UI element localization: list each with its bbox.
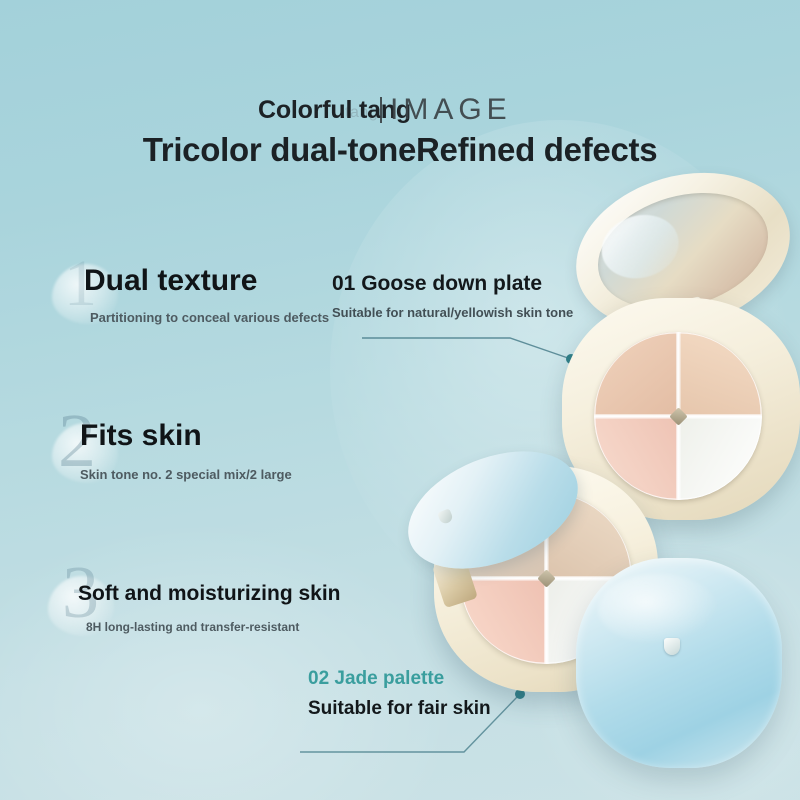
shade-quadrant-2 — [678, 332, 762, 416]
callout-title: 01 Goose down plate — [332, 272, 573, 296]
brand-bar: tang Colorful tang IMAGE — [0, 46, 800, 86]
page-title: Tricolor dual-toneRefined defects — [0, 131, 800, 169]
feature-item-soft-moisturizing: 3 Soft and moisturizing skin 8H long-las… — [48, 560, 378, 598]
brand-emblem-icon — [664, 638, 680, 655]
feature-subtitle: Skin tone no. 2 special mix/2 large — [52, 467, 382, 482]
brand-logo-text: IMAGE — [390, 93, 512, 126]
promo-canvas: tang Colorful tang IMAGE Tricolor dual-t… — [0, 0, 800, 800]
compact-closed-body — [576, 558, 782, 768]
feature-title: Soft and moisturizing skin — [48, 582, 378, 606]
callout-goose-down-plate: 01 Goose down plate Suitable for natural… — [332, 272, 573, 320]
feature-subtitle: 8H long-lasting and transfer-resistant — [48, 620, 378, 634]
brand-emblem-icon — [437, 508, 454, 525]
product-compact-closed — [568, 548, 792, 784]
feature-title: Fits skin — [52, 419, 382, 453]
brand-logo-image: IMAGE — [380, 93, 512, 127]
shade-quadrant-1 — [594, 332, 678, 416]
callout-subtitle: Suitable for natural/yellowish skin tone — [332, 305, 573, 320]
brand-divider-icon — [380, 97, 382, 123]
feature-item-fits-skin: 2 Fits skin Skin tone no. 2 special mix/… — [52, 405, 382, 454]
shade-quadrant-4 — [678, 416, 762, 500]
lid-sheen-icon — [598, 574, 718, 644]
